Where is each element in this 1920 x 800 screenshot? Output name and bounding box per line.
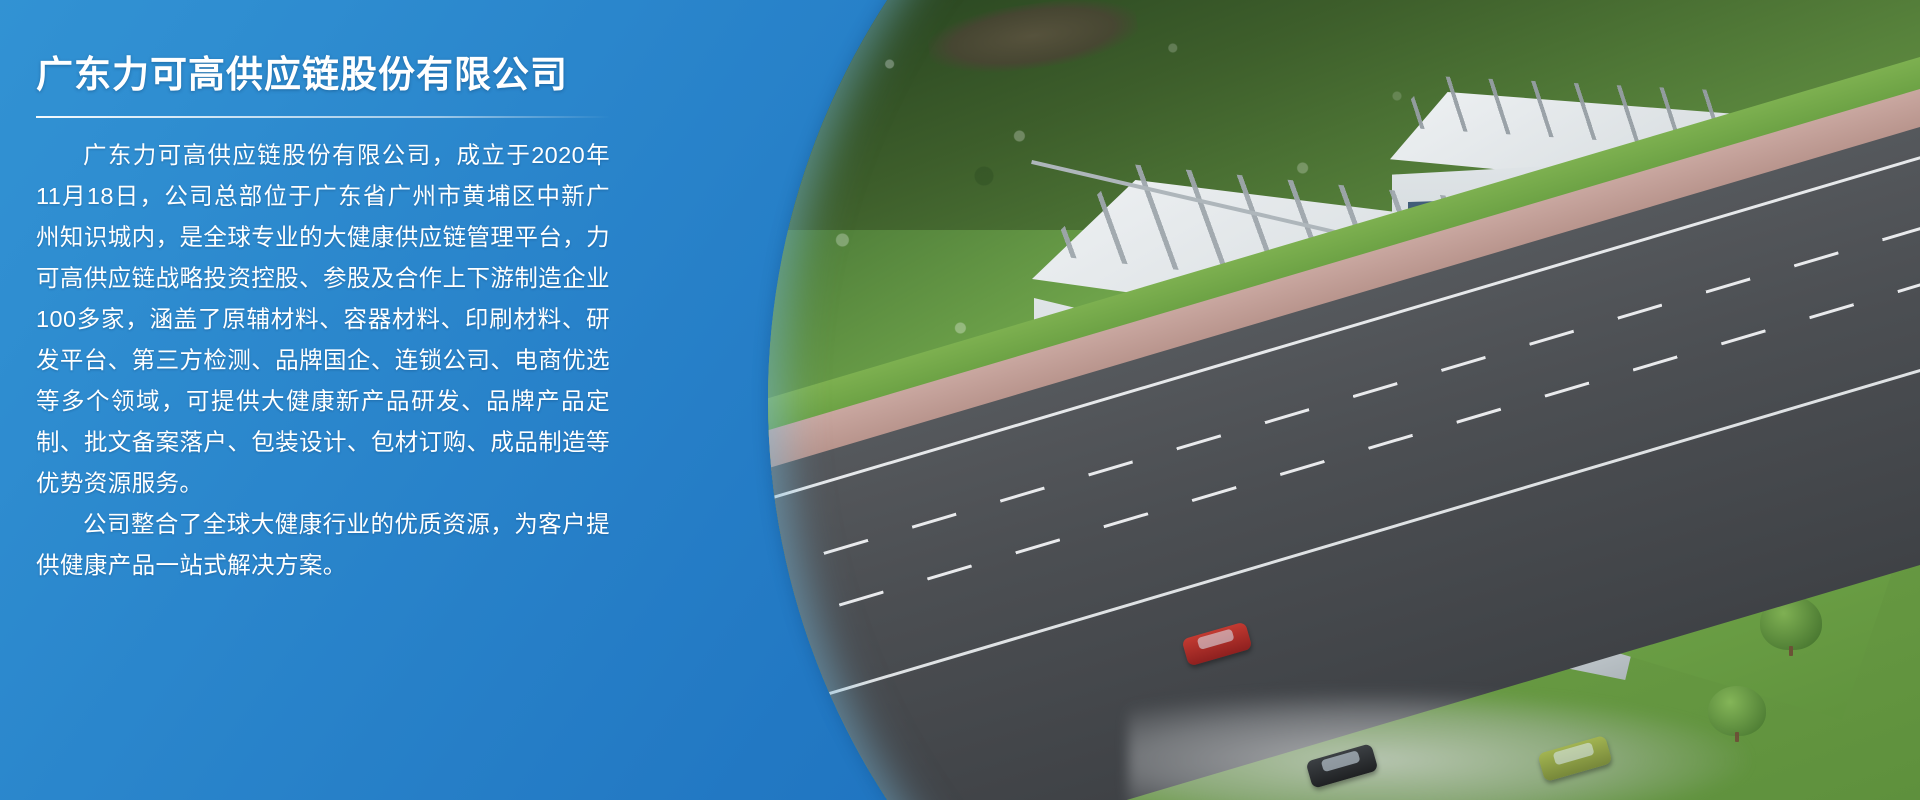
page-title: 广东力可高供应链股份有限公司 <box>36 52 610 98</box>
facility-photo <box>768 0 1920 800</box>
company-profile-banner: 广东力可高供应链股份有限公司 广东力可高供应链股份有限公司，成立于2020年11… <box>0 0 1920 800</box>
text-column: 广东力可高供应链股份有限公司 广东力可高供应链股份有限公司，成立于2020年11… <box>0 0 640 800</box>
company-description-paragraph-1: 广东力可高供应链股份有限公司，成立于2020年11月18日，公司总部位于广东省广… <box>36 135 610 504</box>
company-description-paragraph-2: 公司整合了全球大健康行业的优质资源，为客户提供健康产品一站式解决方案。 <box>36 504 610 586</box>
facility-photo-circle <box>768 0 1920 800</box>
road-haze <box>1128 690 1748 800</box>
title-divider <box>36 116 610 118</box>
